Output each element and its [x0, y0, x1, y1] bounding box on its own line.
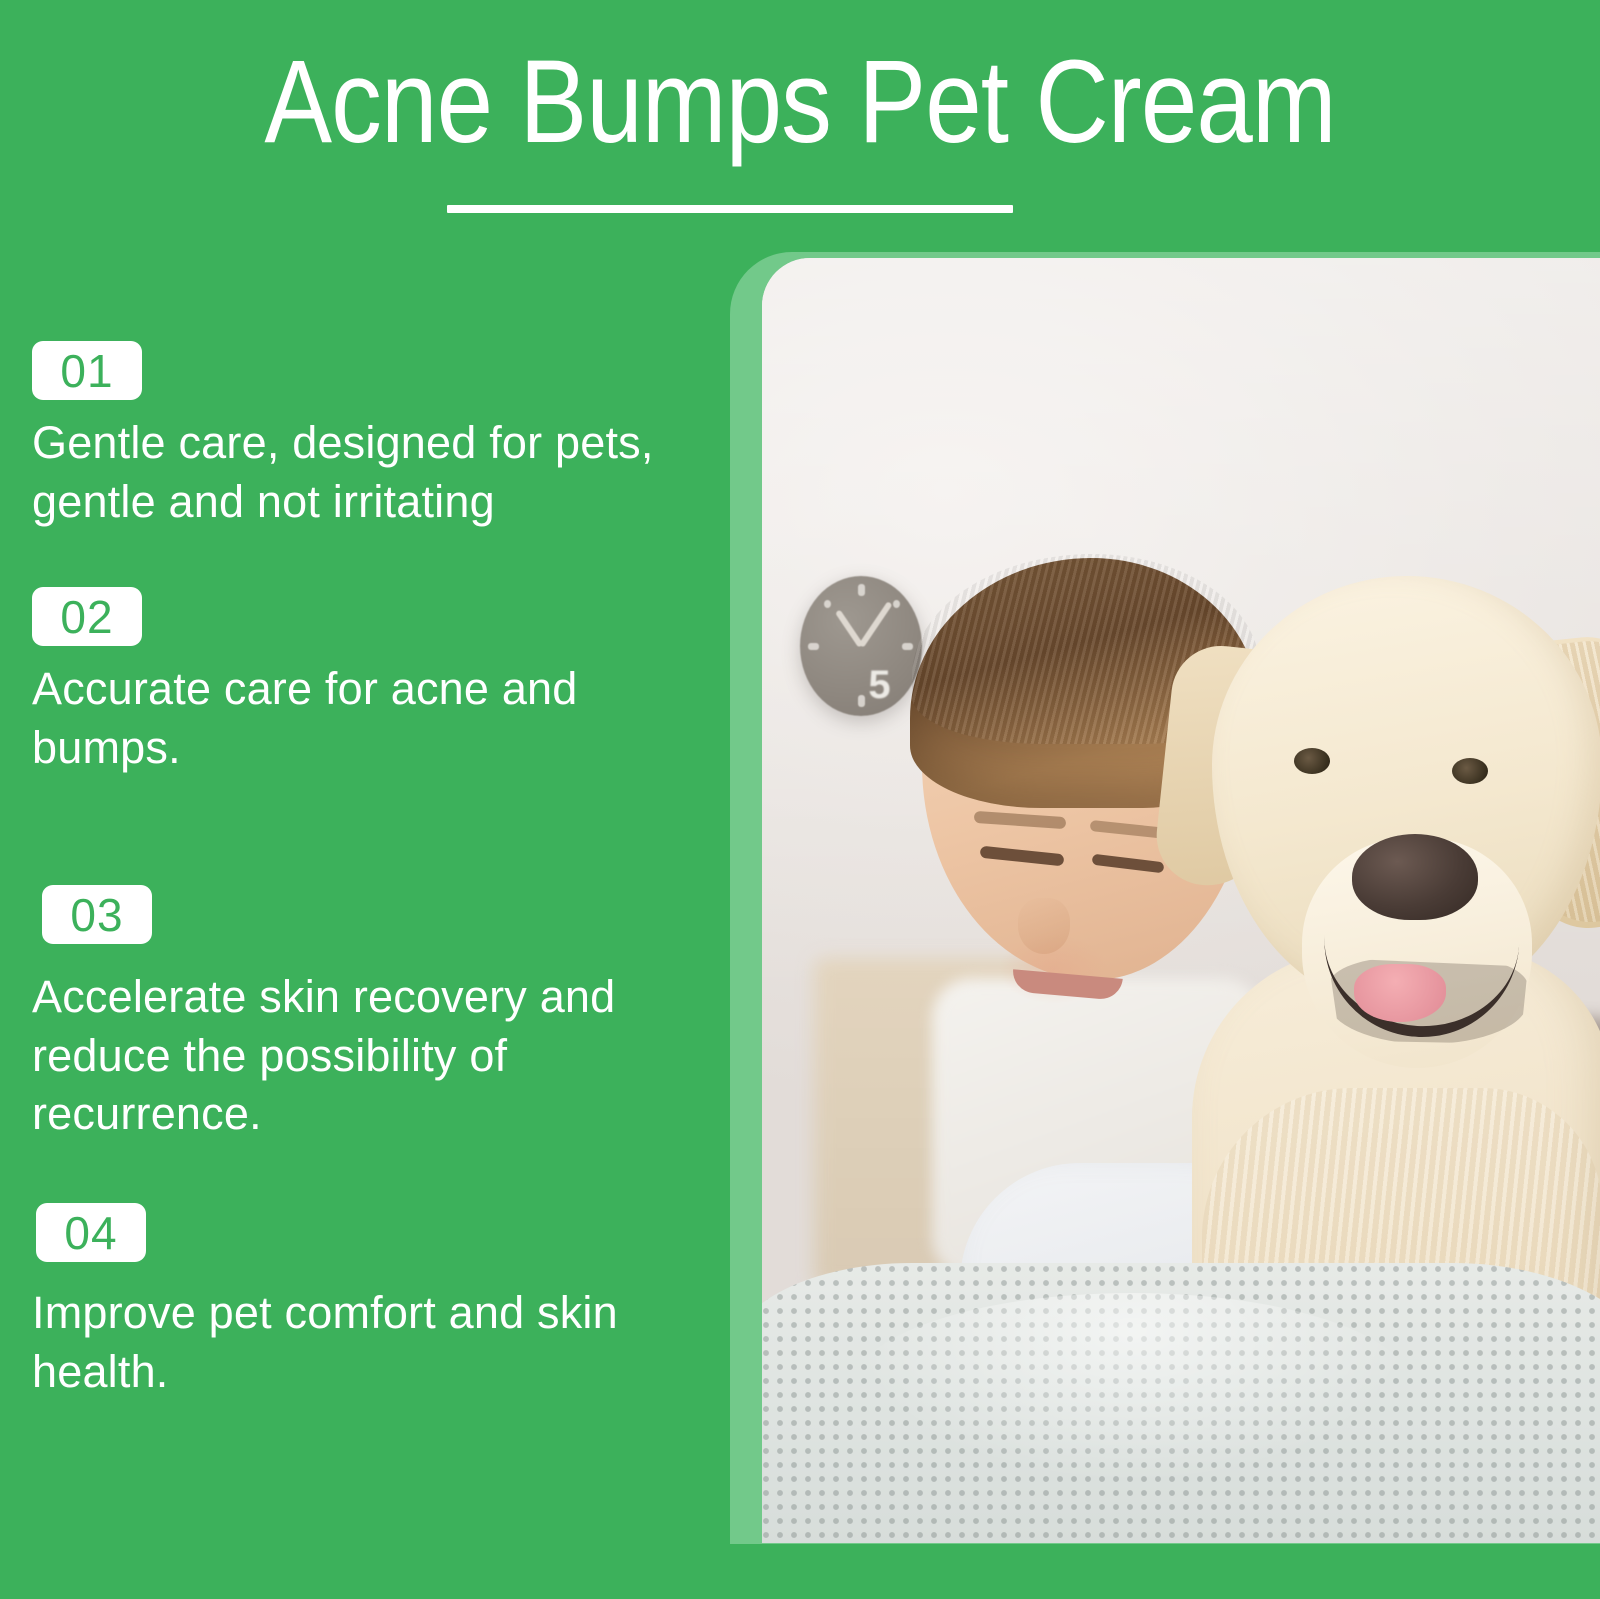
product-feature-poster: Acne Bumps Pet Cream 01 Gentle care, des… — [0, 0, 1600, 1599]
page-title: Acne Bumps Pet Cream — [112, 36, 1488, 168]
feature-text-04: Improve pet comfort and skin health. — [32, 1284, 682, 1401]
poster-header: Acne Bumps Pet Cream — [0, 0, 1600, 240]
feature-number-badge-01: 01 — [32, 341, 142, 400]
feature-text-03: Accelerate skin recovery and reduce the … — [32, 968, 687, 1144]
feature-number-badge-03: 03 — [42, 885, 152, 944]
clock-tick-9 — [808, 643, 819, 650]
feature-item-01: 01 Gentle care, designed for pets, gentl… — [32, 341, 692, 531]
clock-minute-hand — [859, 601, 893, 647]
hero-photo: 5 — [762, 258, 1600, 1543]
clock-numeral-5: 5 — [868, 663, 890, 708]
clock-tick-11 — [824, 600, 831, 608]
boy-nose — [1018, 898, 1070, 954]
dog-eye-left — [1294, 748, 1330, 774]
feature-list: 01 Gentle care, designed for pets, gentl… — [0, 250, 712, 1599]
feature-number-badge-04: 04 — [36, 1203, 146, 1262]
clock-tick-6 — [858, 695, 865, 707]
dog-nose — [1352, 834, 1478, 920]
wall-clock-icon: 5 — [800, 576, 922, 716]
clock-tick-1 — [893, 600, 900, 608]
bedspread-highlight — [852, 1293, 1412, 1483]
feature-item-03: 03 Accelerate skin recovery and reduce t… — [32, 885, 692, 1144]
title-underline-divider — [447, 205, 1013, 213]
dog-tongue — [1354, 964, 1446, 1022]
feature-item-04: 04 Improve pet comfort and skin health. — [32, 1203, 692, 1401]
clock-tick-3 — [902, 643, 913, 650]
feature-text-01: Gentle care, designed for pets, gentle a… — [32, 414, 677, 531]
clock-tick-12 — [858, 584, 865, 596]
dog-eye-right — [1452, 758, 1488, 784]
feature-text-02: Accurate care for acne and bumps. — [32, 660, 682, 777]
feature-number-badge-02: 02 — [32, 587, 142, 646]
feature-item-02: 02 Accurate care for acne and bumps. — [32, 587, 692, 777]
